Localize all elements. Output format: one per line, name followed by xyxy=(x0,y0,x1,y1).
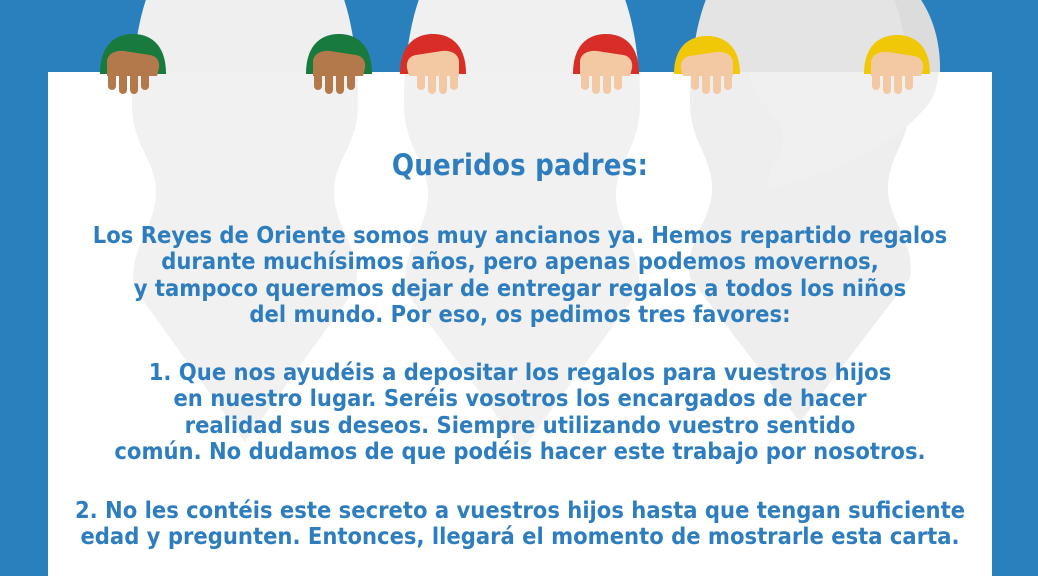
hand-2 xyxy=(306,34,372,94)
letter-card: Queridos padres: Los Reyes de Oriente so… xyxy=(48,72,992,576)
poster-root: Queridos padres: Los Reyes de Oriente so… xyxy=(0,0,1038,576)
hand-1-finger-3 xyxy=(130,72,138,94)
hand-6-finger-2 xyxy=(883,72,891,94)
hand-4-finger-3 xyxy=(603,72,611,94)
letter-paragraph-intro: Los Reyes de Oriente somos muy ancianos … xyxy=(56,182,984,328)
letter-paragraph-item-2: 2. No les contéis este secreto a vuestro… xyxy=(56,465,984,550)
letter-text-block: Queridos padres: Los Reyes de Oriente so… xyxy=(48,72,992,576)
hand-5-finger-4 xyxy=(724,72,732,90)
hand-2-finger-1 xyxy=(314,72,322,90)
letter-paragraph-item-3: 3. Ayudad también a los papás que están … xyxy=(56,550,984,576)
hands-layer xyxy=(0,0,1038,130)
hand-6 xyxy=(864,35,930,94)
hand-3-finger-4 xyxy=(450,72,458,90)
hand-3-finger-2 xyxy=(428,72,436,94)
hand-4 xyxy=(573,34,639,94)
hand-3-finger-1 xyxy=(417,72,425,90)
hand-5-finger-2 xyxy=(702,72,710,94)
hand-2-finger-3 xyxy=(336,72,344,94)
hand-1 xyxy=(100,34,166,94)
hand-2-finger-4 xyxy=(347,72,355,90)
hand-6-finger-3 xyxy=(894,72,902,94)
hand-4-finger-2 xyxy=(592,72,600,94)
hand-5-finger-1 xyxy=(691,72,699,90)
hand-2-finger-2 xyxy=(325,72,333,94)
hand-1-finger-4 xyxy=(141,72,149,90)
letter-paragraph-item-1: 1. Que nos ayudéis a depositar los regal… xyxy=(56,328,984,465)
hand-3-finger-3 xyxy=(439,72,447,94)
hand-6-finger-4 xyxy=(905,72,913,90)
hand-1-finger-1 xyxy=(108,72,116,90)
hand-4-finger-4 xyxy=(614,72,622,90)
hand-3 xyxy=(400,34,466,94)
hand-4-finger-1 xyxy=(581,72,589,90)
hand-6-finger-1 xyxy=(872,72,880,90)
hand-5 xyxy=(674,36,740,94)
hand-1-finger-2 xyxy=(119,72,127,94)
hand-5-finger-3 xyxy=(713,72,721,94)
